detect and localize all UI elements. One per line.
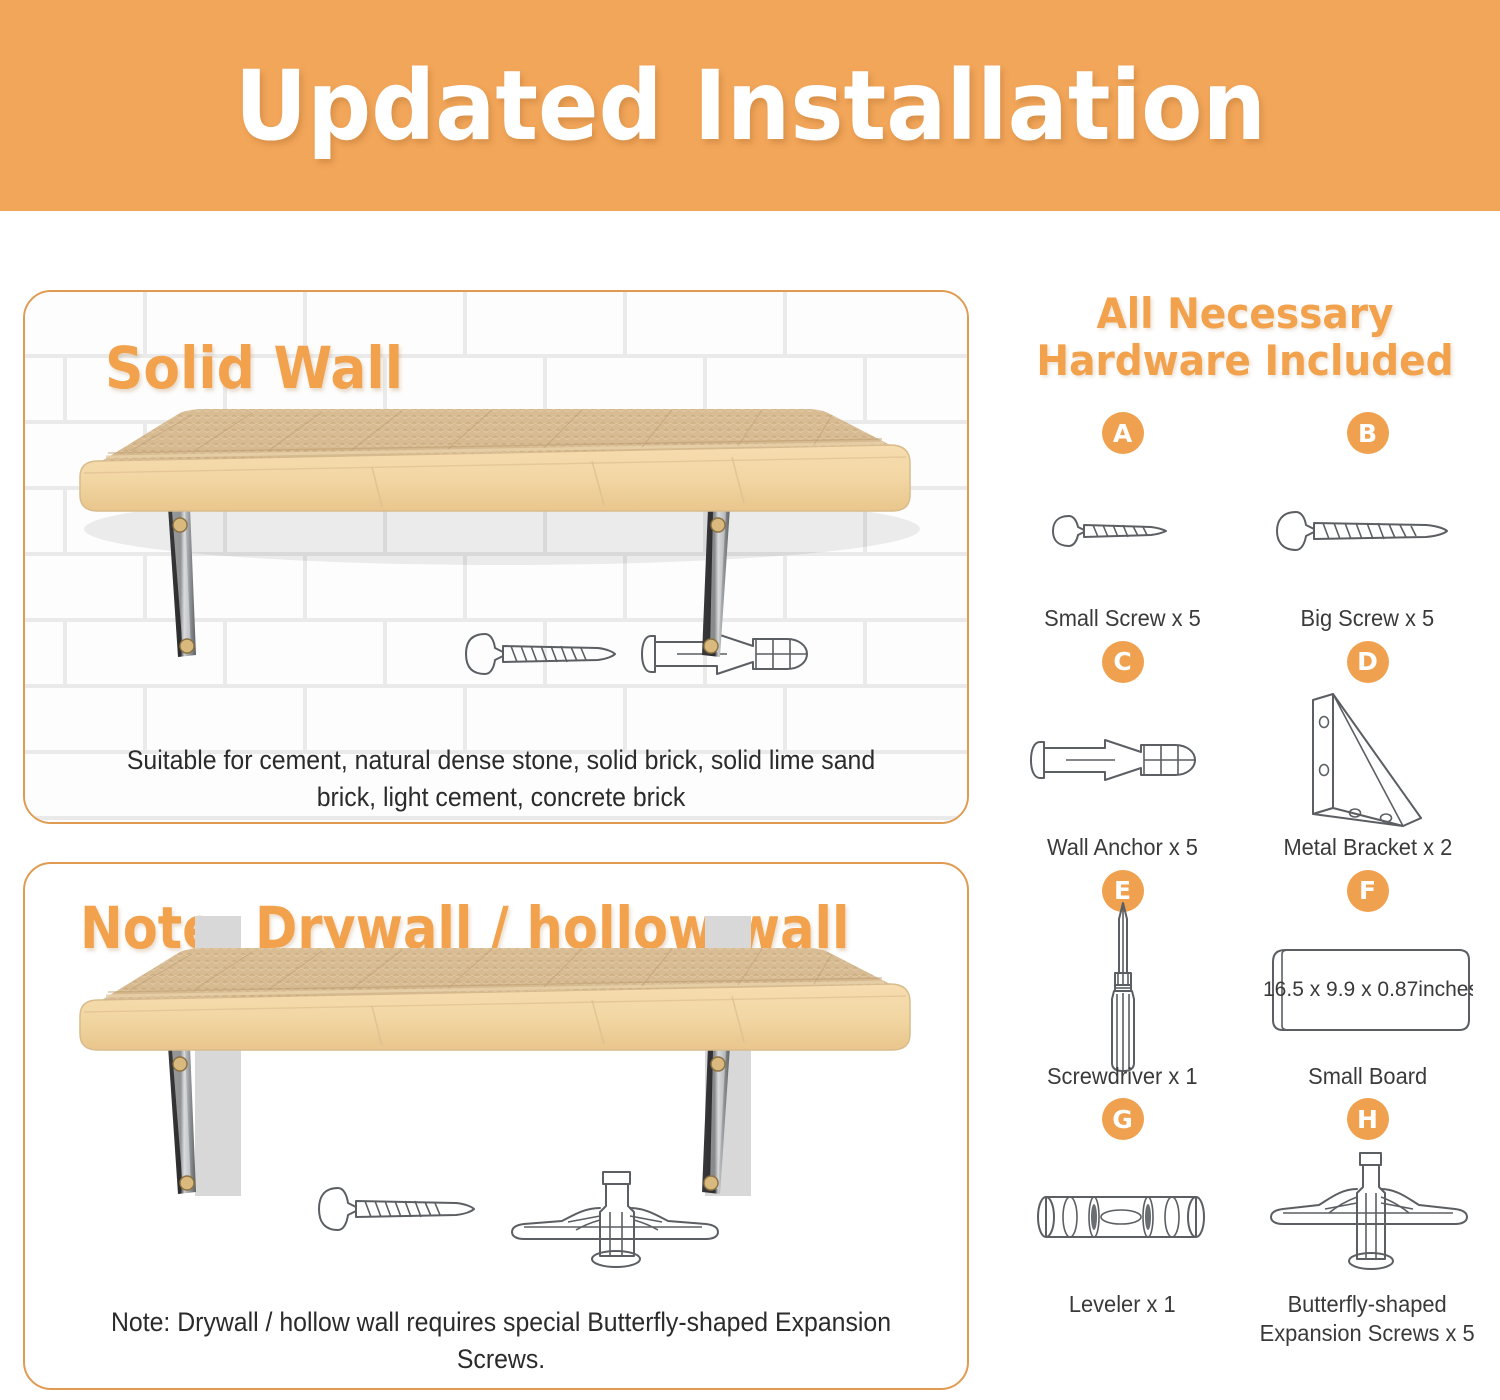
- shelf-illustration-drywall: [72, 924, 927, 1254]
- hardware-item-f: F 16.5 x 9.9 x 0.87inches Small Board: [1245, 870, 1490, 1091]
- hardware-item-g: G Leveler x 1: [1000, 1098, 1245, 1348]
- metal-bracket-icon: [1293, 687, 1443, 833]
- hardware-item-c: C Wall Anchor x 5: [1000, 641, 1245, 862]
- butterfly-expansion-screw-icon: [1263, 1144, 1473, 1290]
- hardware-badge-f: F: [1347, 870, 1389, 912]
- hardware-item-a: A Small Screw x 5: [1000, 412, 1245, 633]
- hardware-badge-h: H: [1347, 1098, 1389, 1140]
- hardware-label-f: Small Board: [1308, 1062, 1427, 1091]
- hardware-list: All Necessary Hardware Included A Small …: [1000, 290, 1490, 1348]
- screwdriver-icon: [1088, 916, 1158, 1062]
- small-board-icon: 16.5 x 9.9 x 0.87inches: [1263, 916, 1473, 1062]
- hardware-title-line1: All Necessary: [1017, 290, 1473, 337]
- drywall-caption: Note: Drywall / hollow wall requires spe…: [96, 1304, 906, 1379]
- wall-anchor-icon: [1023, 687, 1223, 833]
- big-screw-icon: [1268, 458, 1468, 604]
- shelf-illustration-solid: [72, 407, 927, 727]
- hardware-badge-c: C: [1102, 641, 1144, 683]
- hardware-badge-d: D: [1347, 641, 1389, 683]
- hardware-item-e: E Screwdriver x 1: [1000, 870, 1245, 1091]
- hardware-label-e: Screwdriver x 1: [1047, 1062, 1198, 1091]
- small-screw-icon: [1043, 458, 1203, 604]
- page-title: Updated Installation: [234, 58, 1265, 154]
- metal-bracket-right: [702, 1046, 730, 1194]
- solid-wall-heading: Solid Wall: [105, 339, 403, 397]
- hardware-label-d: Metal Bracket x 2: [1283, 833, 1452, 862]
- metal-bracket-left: [168, 1046, 196, 1194]
- hardware-title-line2: Hardware Included: [1017, 337, 1473, 384]
- hardware-label-b: Big Screw x 5: [1301, 604, 1435, 633]
- hardware-item-h: H Butterfly-shaped Expansion Screws x 5: [1245, 1098, 1490, 1348]
- hardware-label-a: Small Screw x 5: [1044, 604, 1201, 633]
- hardware-item-d: D Metal B: [1245, 641, 1490, 862]
- solid-wall-panel: Solid Wall: [23, 290, 969, 824]
- hardware-badge-b: B: [1347, 412, 1389, 454]
- hardware-title: All Necessary Hardware Included: [1017, 290, 1473, 384]
- solid-wall-caption: Suitable for cement, natural dense stone…: [96, 742, 906, 817]
- hardware-label-g: Leveler x 1: [1069, 1290, 1176, 1319]
- hardware-badge-g: G: [1102, 1098, 1144, 1140]
- hardware-label-c: Wall Anchor x 5: [1047, 833, 1198, 862]
- hardware-item-b: B Big Screw x 5: [1245, 412, 1490, 633]
- content-area: Solid Wall: [0, 211, 1500, 1400]
- drywall-panel: Note: Drywall / hollow wall: [23, 862, 969, 1390]
- hardware-label-h: Butterfly-shaped Expansion Screws x 5: [1260, 1290, 1475, 1348]
- hardware-badge-a: A: [1102, 412, 1144, 454]
- leveler-icon: [1028, 1144, 1218, 1290]
- board-dimensions-text: 16.5 x 9.9 x 0.87inches: [1263, 978, 1473, 1001]
- page-header: Updated Installation: [0, 0, 1500, 211]
